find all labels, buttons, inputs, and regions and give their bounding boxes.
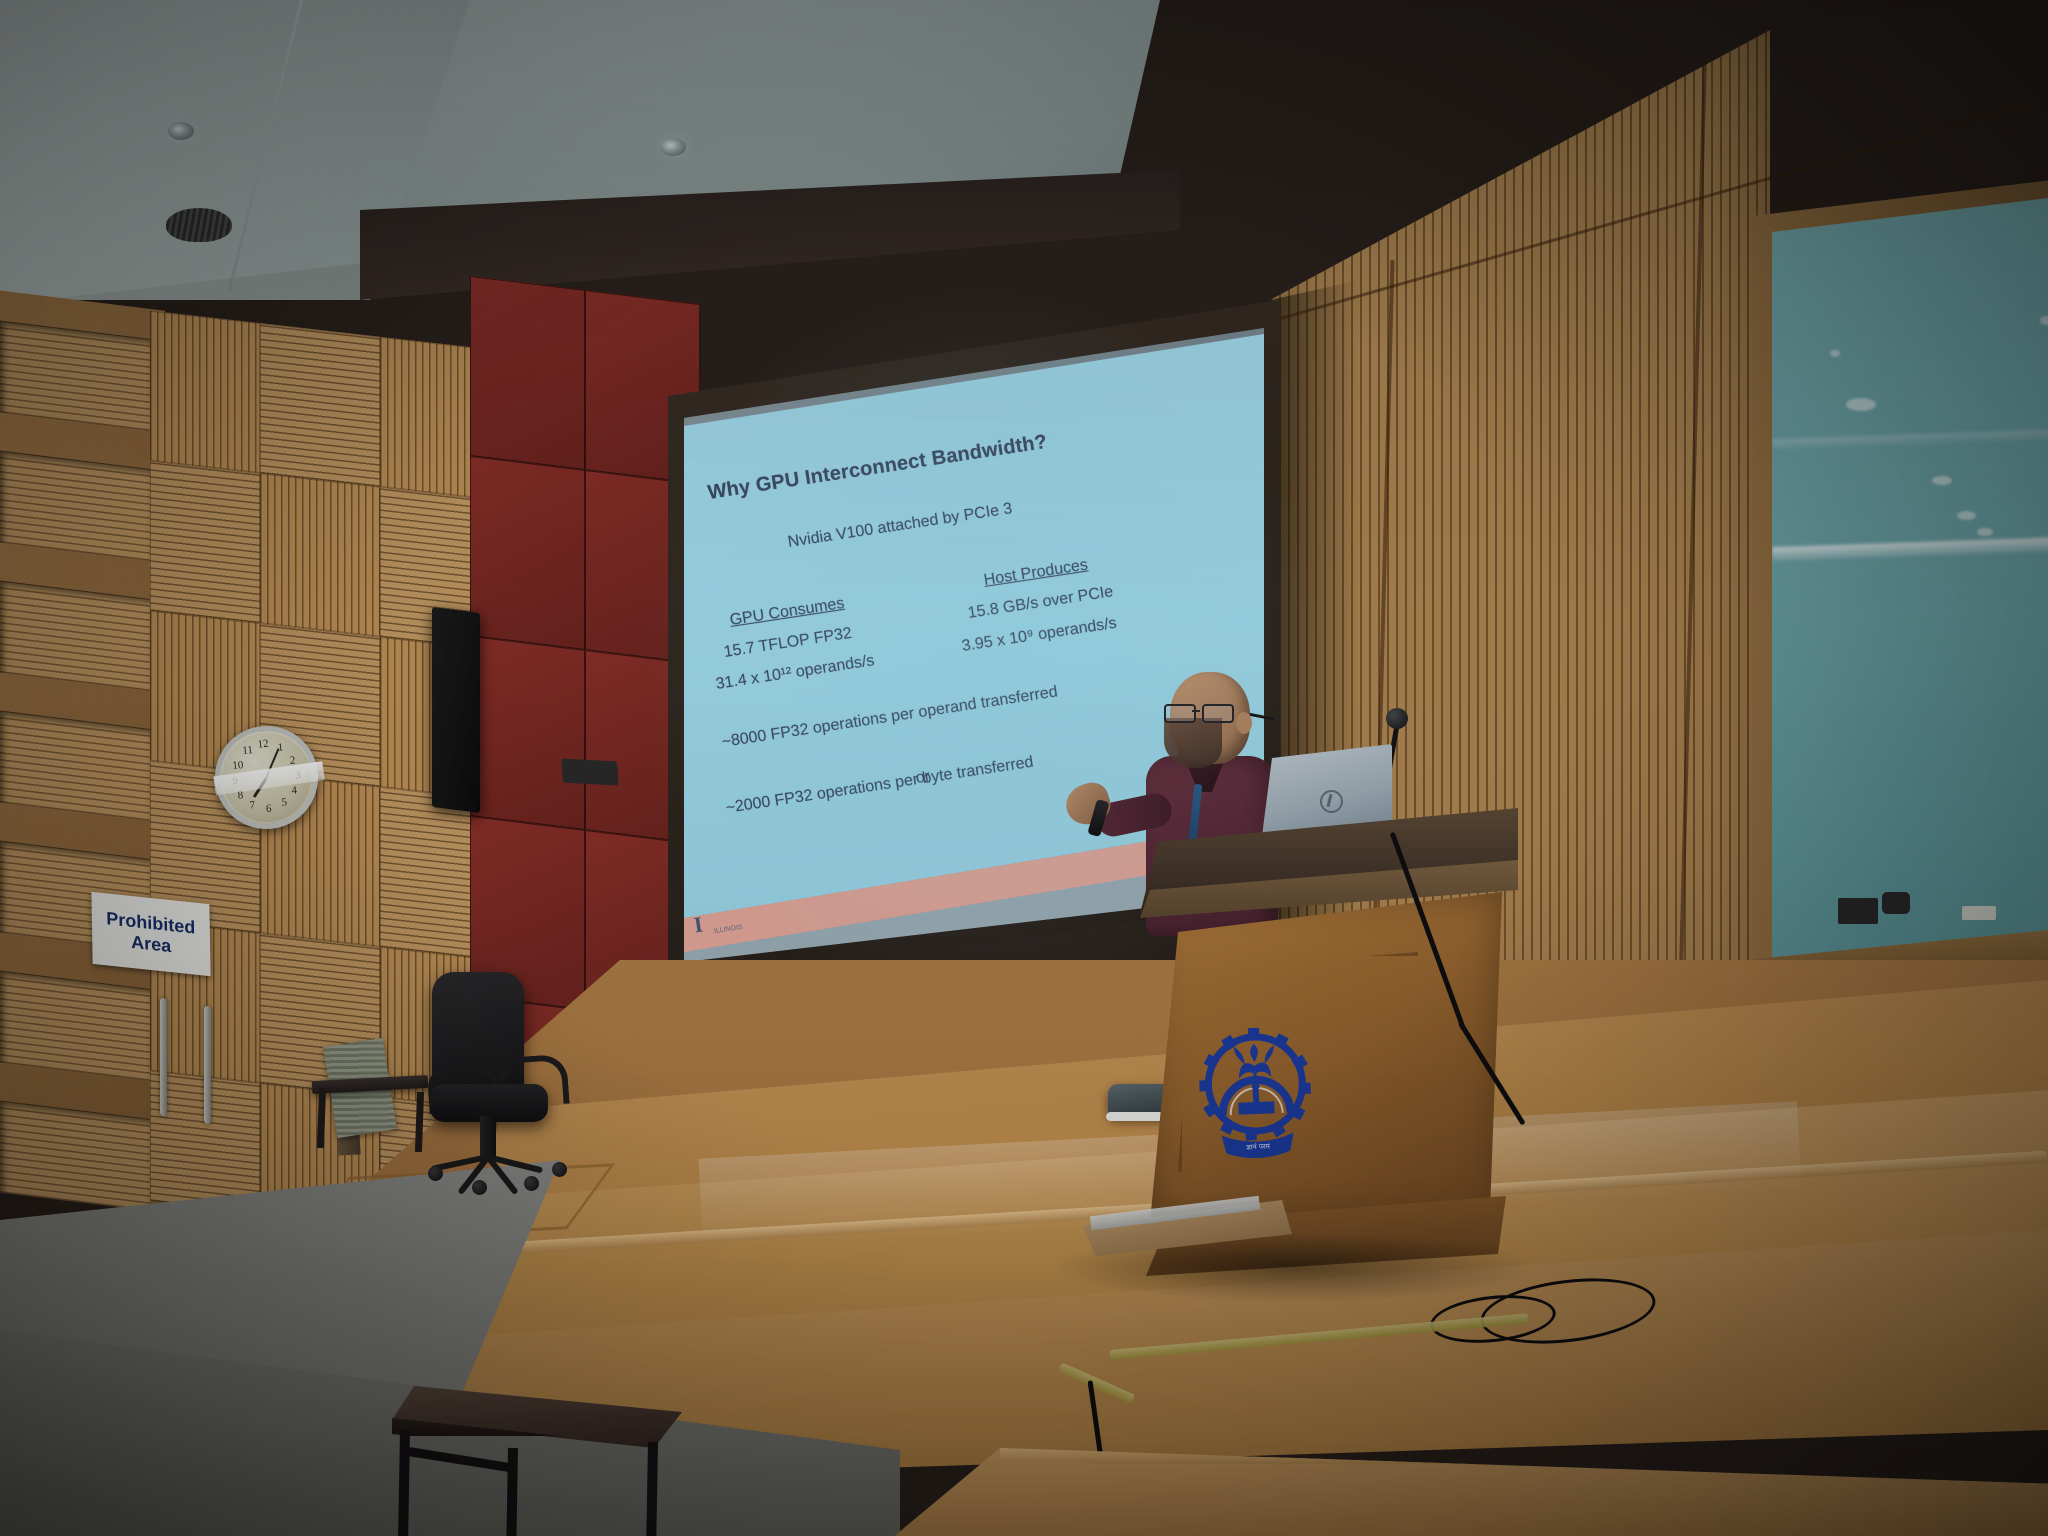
prohibited-area-sign-label: Prohibited Area	[92, 907, 211, 961]
foreground-stool-leg	[646, 1442, 658, 1536]
office-chair-caster	[428, 1166, 443, 1181]
lecture-hall-photo: 12 1 2 3 4 5 6 7 8 9 10 11 Prohibited Ar…	[0, 0, 2048, 1536]
presenter-ear	[1236, 712, 1252, 734]
foreground-desk-edge	[880, 1448, 2048, 1464]
office-chair-base	[430, 1146, 550, 1162]
iit-bombay-emblem: ज्ञानं परमं	[1193, 1019, 1319, 1174]
booth-equipment	[1838, 898, 1878, 924]
clock-numeral: 4	[291, 784, 298, 796]
glass-light-strip	[1772, 537, 2048, 561]
downlight-icon	[168, 122, 194, 140]
booth-equipment	[1962, 906, 1996, 920]
glass-reflection	[1977, 528, 1993, 536]
clock-numeral: 11	[242, 744, 254, 757]
glass-reflection	[2040, 316, 2048, 325]
office-chair-caster	[552, 1162, 567, 1177]
office-chair-caster	[524, 1176, 539, 1191]
clock-numeral: 12	[257, 738, 269, 751]
booth-equipment	[1882, 892, 1910, 914]
svg-text:ज्ञानं परमं: ज्ञानं परमं	[1246, 1142, 1271, 1151]
wall-loudspeaker	[432, 607, 480, 813]
downlight-icon	[660, 138, 686, 156]
door-handle[interactable]	[204, 1006, 211, 1125]
projection-booth-glass	[1772, 198, 2048, 958]
dell-logo-icon	[1320, 790, 1343, 813]
air-vent-icon	[166, 208, 232, 242]
clock-numeral: 5	[281, 796, 288, 808]
microphone-head-icon	[1386, 708, 1408, 729]
glass-reflection	[1846, 398, 1876, 411]
glass-reflection	[1932, 476, 1952, 485]
glass-reflection	[1830, 350, 1840, 357]
glass-reflection	[1957, 511, 1976, 520]
office-chair-caster	[472, 1180, 487, 1195]
clock-numeral: 10	[232, 759, 244, 772]
glasses-icon	[1164, 704, 1238, 720]
clock-numeral: 6	[265, 803, 272, 815]
prohibited-area-sign: Prohibited Area	[91, 892, 210, 977]
foreground-stool-leg	[506, 1448, 518, 1536]
speaker-mount-bracket	[561, 758, 619, 785]
clock-numeral: 7	[249, 799, 256, 811]
left-wall-recessed-shelving	[0, 289, 165, 1210]
door-handle[interactable]	[160, 998, 167, 1117]
glass-light-strip	[1772, 429, 2048, 449]
